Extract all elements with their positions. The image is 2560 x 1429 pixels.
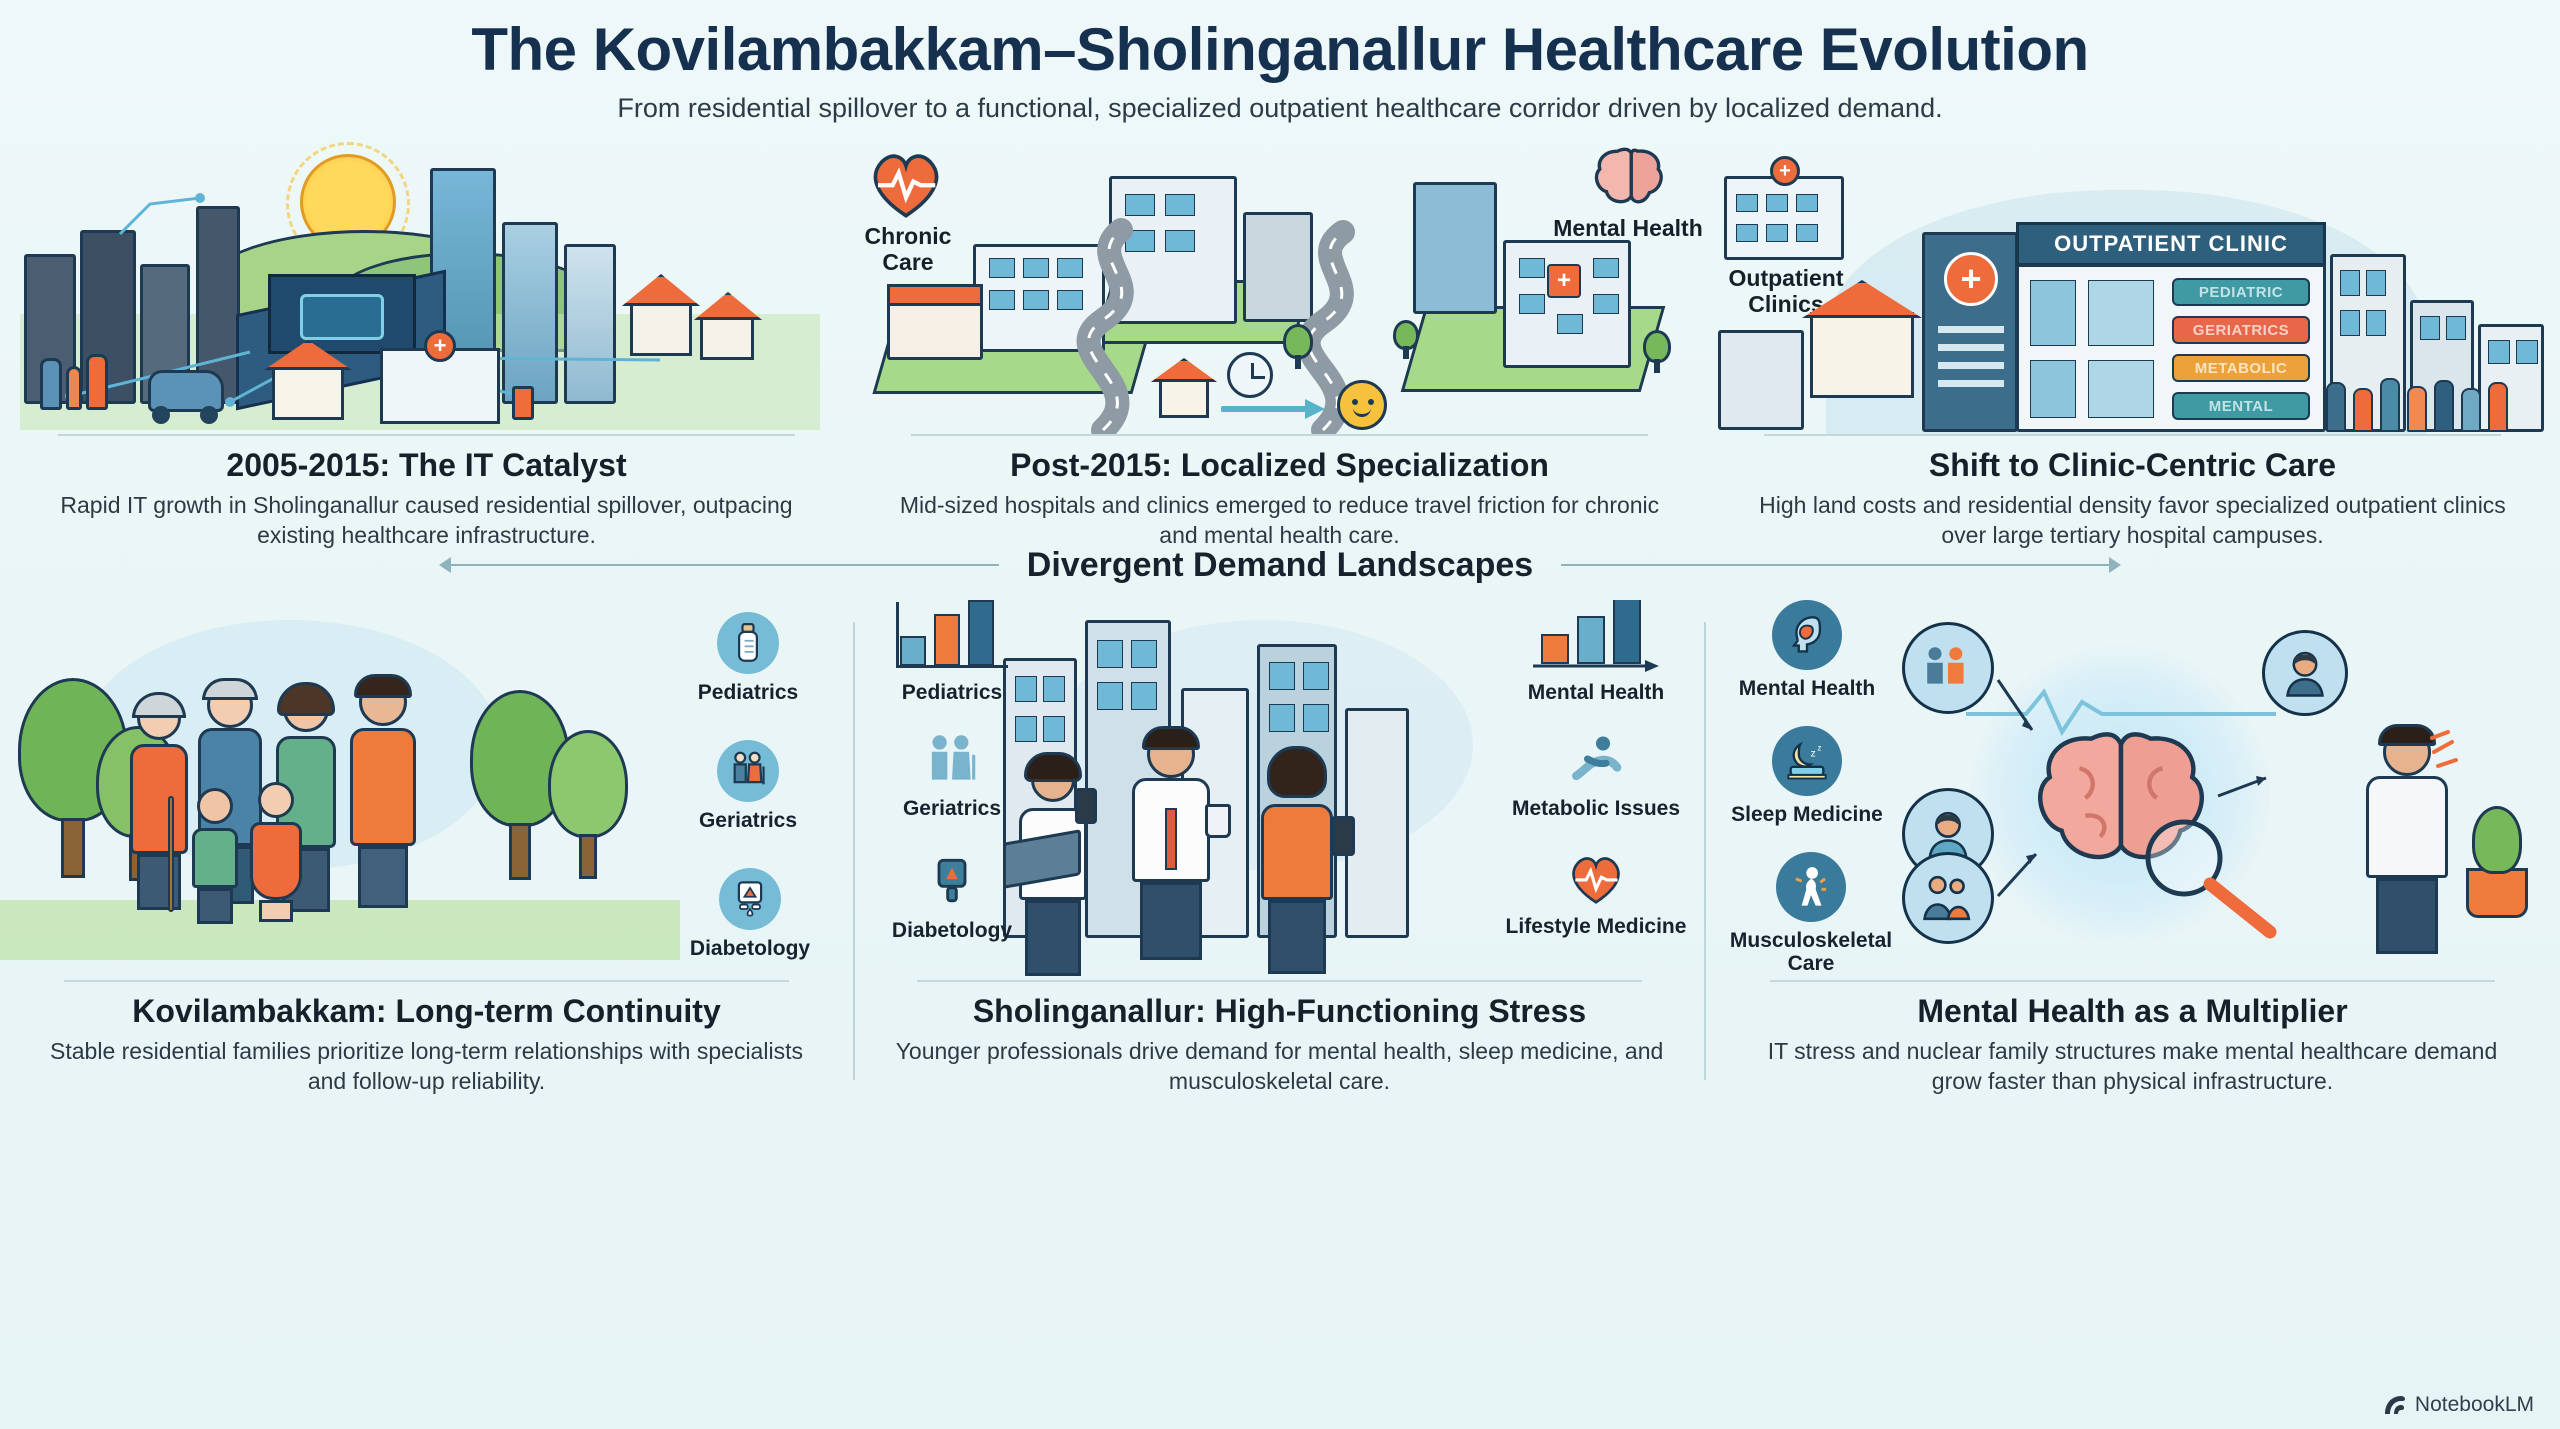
brain-network-illustration: Mental Health z z Sleep Medicine <box>1706 600 2559 980</box>
smartphone-icon <box>1075 788 1097 824</box>
ground-strip <box>0 900 680 960</box>
glucometer-icon <box>924 852 980 912</box>
walking-cane-icon <box>168 796 174 912</box>
panel-title: Mental Health as a Multiplier <box>1740 994 2525 1029</box>
page-subtitle: From residential spillover to a function… <box>0 93 2560 124</box>
clinic-department-chip: METABOLIC <box>2172 354 2310 382</box>
smartphone-icon <box>1331 816 1355 856</box>
chip-geriatrics: Geriatrics <box>867 728 1037 820</box>
panel-mental-health-multiplier: Mental Health z z Sleep Medicine <box>1706 600 2559 1140</box>
chip-label: Geriatrics <box>903 797 1001 820</box>
timeline-row: + 2005-2015: The IT Catalyst Rapid IT gr… <box>0 134 2560 534</box>
chip-diabetology: Diabetology <box>660 868 840 960</box>
car-wheel <box>152 406 170 424</box>
infographic-canvas: The Kovilambakkam–Sholinganallur Healthc… <box>0 0 2560 1429</box>
coffee-cup-icon <box>1205 804 1231 838</box>
chip-metabolic-issues: Metabolic Issues <box>1501 728 1691 820</box>
arrow-right-icon <box>1221 396 1327 422</box>
chip-label: Mental Health <box>1528 681 1665 704</box>
panel-title: Sholinganallur: High-Functioning Stress <box>887 994 1672 1029</box>
car-wheel <box>200 406 218 424</box>
plant-leaves-icon <box>2472 806 2522 874</box>
caption-divider <box>917 980 1642 982</box>
caption-block: Kovilambakkam: Long-term Continuity Stab… <box>0 980 853 1096</box>
chip-label: Pediatrics <box>698 681 798 704</box>
chip-label: Pediatrics <box>902 681 1002 704</box>
winding-roads <box>853 134 1706 434</box>
rising-bar-chart-icon <box>1531 602 1661 674</box>
elderly-couple-icon <box>717 740 779 802</box>
clinic-signboard: OUTPATIENT CLINIC <box>2016 222 2326 266</box>
bar-chart-icon <box>892 602 1012 674</box>
father-figure <box>348 678 418 918</box>
multigenerational-family-illustration: Pediatrics Geriatrics <box>0 600 853 980</box>
baby-bottle-icon <box>717 612 779 674</box>
header: The Kovilambakkam–Sholinganallur Healthc… <box>0 0 2560 124</box>
divider-title: Divergent Demand Landscapes <box>999 546 1561 585</box>
heart-pulse-icon <box>1563 850 1629 908</box>
clinic-department-chip: GERIATRICS <box>2172 316 2310 344</box>
panel-title: Kovilambakkam: Long-term Continuity <box>34 994 819 1029</box>
clinic-department-chip: PEDIATRIC <box>2172 278 2310 306</box>
hospital-roads-illustration: Chronic Care Mental Health + <box>853 134 1706 434</box>
house-body <box>1159 378 1209 418</box>
chip-pediatrics: Pediatrics <box>867 602 1037 704</box>
section-divider: Divergent Demand Landscapes <box>0 530 2560 600</box>
notebooklm-icon <box>2383 1394 2407 1416</box>
tree-icon <box>1643 330 1671 376</box>
boy-figure <box>190 788 240 918</box>
caption-divider <box>1764 434 2501 436</box>
panel-title: 2005-2015: The IT Catalyst <box>28 448 825 483</box>
medical-cross-icon: + <box>424 330 456 362</box>
low-rise-building <box>1718 330 1804 430</box>
chip-label: Diabetology <box>892 919 1012 942</box>
caption-divider <box>64 980 789 982</box>
house-body <box>1810 312 1914 398</box>
medical-cross-icon: + <box>1770 156 1800 186</box>
watermark-label: NotebookLM <box>2415 1393 2534 1417</box>
caption-divider <box>1770 980 2495 982</box>
clinic-department-chip: MENTAL <box>2172 392 2310 420</box>
panel-body: IT stress and nuclear family structures … <box>1740 1037 2525 1096</box>
chip-pediatrics: Pediatrics <box>668 612 828 704</box>
smiley-icon <box>1337 380 1387 430</box>
panel-localized-specialization: Chronic Care Mental Health + <box>853 134 1706 534</box>
panel-it-catalyst: + 2005-2015: The IT Catalyst Rapid IT gr… <box>0 134 853 534</box>
watermark: NotebookLM <box>2383 1393 2534 1417</box>
grandmother-figure <box>128 696 190 916</box>
clinic-sign-text: OUTPATIENT CLINIC <box>2054 231 2288 257</box>
it-corridor-isometric-illustration: + <box>0 134 853 434</box>
family-group-icon <box>36 348 126 420</box>
panel-title: Post-2015: Localized Specialization <box>881 448 1678 483</box>
elderly-couple-icon <box>916 728 988 790</box>
professional-woman-2-figure <box>1253 750 1341 968</box>
medical-cross-icon: + <box>1944 252 1998 306</box>
tree-icon <box>1393 320 1419 362</box>
panel-kovilambakkam: Pediatrics Geriatrics <box>0 600 853 1140</box>
plant-pot-icon <box>2466 868 2528 918</box>
small-clinic-building <box>1724 176 1844 260</box>
chip-mental-health: Mental Health <box>1501 602 1691 704</box>
divider-arrow-left <box>439 557 999 573</box>
tree-icon <box>1283 324 1313 372</box>
demand-landscape-row: Pediatrics Geriatrics <box>0 600 2560 1140</box>
panel-clinic-centric-care: + Outpatient Clinics + <box>1706 134 2559 534</box>
page-title: The Kovilambakkam–Sholinganallur Healthc… <box>0 18 2560 81</box>
stress-lines-icon <box>2426 728 2486 780</box>
medical-kit-icon <box>512 386 534 420</box>
caption-divider <box>911 434 1648 436</box>
divider-arrow-right <box>1561 557 2121 573</box>
chip-lifestyle-medicine: Lifestyle Medicine <box>1501 850 1691 938</box>
chip-label: Geriatrics <box>699 809 797 832</box>
chip-label: Diabetology <box>690 937 810 960</box>
caption-block: Sholinganallur: High-Functioning Stress … <box>853 980 1706 1096</box>
runner-icon <box>1559 728 1633 790</box>
professional-man-figure <box>1125 730 1217 968</box>
panel-title: Shift to Clinic-Centric Care <box>1734 448 2531 483</box>
outpatient-clinic-skyline-illustration: + Outpatient Clinics + <box>1706 134 2559 434</box>
chip-diabetology: Diabetology <box>867 852 1037 942</box>
clock-icon <box>1227 352 1273 398</box>
panel-body: Stable residential families prioritize l… <box>34 1037 819 1096</box>
panel-sholinganallur: Pediatrics Geriatrics <box>853 600 1706 1140</box>
girl-figure <box>250 782 302 918</box>
chip-label: Metabolic Issues <box>1512 797 1680 820</box>
caption-divider <box>58 434 795 436</box>
young-professionals-city-illustration: Pediatrics Geriatrics <box>853 600 1706 980</box>
glucometer-icon <box>719 868 781 930</box>
caption-block: Mental Health as a Multiplier IT stress … <box>1706 980 2559 1096</box>
tree-icon <box>548 730 628 880</box>
house-body <box>272 366 344 420</box>
crowd-group-icon <box>2326 370 2546 432</box>
chip-geriatrics: Geriatrics <box>668 740 828 832</box>
chip-label: Lifestyle Medicine <box>1506 915 1687 938</box>
panel-body: Younger professionals drive demand for m… <box>887 1037 1672 1096</box>
